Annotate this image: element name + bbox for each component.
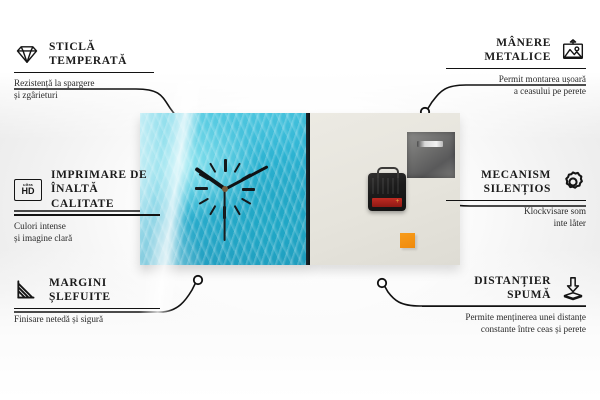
callout-head: DISTANȚIER SPUMĂ <box>422 274 586 303</box>
battery-plus-icon: + <box>395 199 400 204</box>
back-panel: + <box>310 113 460 265</box>
callout-title-line1: STICLĂ <box>49 40 127 54</box>
callout-description: Finisare netedă și sigură <box>14 313 160 325</box>
callout-foam-spacer: DISTANȚIER SPUMĂ Permite menținerea unei… <box>422 274 586 335</box>
callout-desc-line2: și imagine clară <box>14 232 160 244</box>
callout-title: DISTANȚIER SPUMĂ <box>474 274 551 303</box>
callout-divider <box>14 72 154 73</box>
callout-desc-line2: și zgârieturi <box>14 89 154 101</box>
battery: + <box>372 198 402 207</box>
hanger-loop <box>377 167 399 178</box>
callout-title-line1: IMPRIMARE DE <box>51 168 160 182</box>
callout-divider <box>446 200 586 201</box>
callout-desc-line1: Finisare netedă și sigură <box>14 313 160 325</box>
ultra-hd-icon: ultra HD <box>14 179 42 201</box>
hanger-slot <box>417 141 443 147</box>
callout-title-line2: SILENȚIOS <box>481 182 551 196</box>
callout-title: IMPRIMARE DE ÎNALTĂ CALITATE <box>51 168 160 211</box>
callout-head: STICLĂ TEMPERATĂ <box>14 40 154 69</box>
callout-divider <box>14 308 160 309</box>
callout-title-line2: ȘLEFUITE <box>49 290 111 304</box>
callout-polished-edges: MARGINI ȘLEFUITE Finisare netedă și sigu… <box>14 276 160 325</box>
callout-desc-line1: Permit montarea ușoară <box>446 73 586 85</box>
picture-frame-hanger-icon <box>560 37 586 63</box>
callout-tempered-glass: STICLĂ TEMPERATĂ Rezistență la spargere … <box>14 40 154 101</box>
callout-desc-line1: Culori intense <box>14 220 160 232</box>
callout-silent-mechanism: MECANISM SILENȚIOS Klockvisare som inte … <box>446 168 586 229</box>
callout-title-line1: MECANISM <box>481 168 551 182</box>
polished-edges-icon <box>14 277 40 303</box>
callout-desc-line2: inte låter <box>446 217 586 229</box>
clock-center-pin <box>222 186 228 192</box>
callout-description: Permit montarea ușoară a ceasului pe per… <box>446 73 586 97</box>
callout-title-line2: METALICE <box>484 50 551 64</box>
callout-desc-line1: Klockvisare som <box>446 205 586 217</box>
callout-title: MARGINI ȘLEFUITE <box>49 276 111 305</box>
callout-title-line1: DISTANȚIER <box>474 274 551 288</box>
callout-title: MECANISM SILENȚIOS <box>481 168 551 197</box>
clock-face <box>140 113 310 265</box>
callout-description: Culori intense și imagine clară <box>14 220 160 244</box>
foam-spacer <box>400 233 415 248</box>
callout-description: Klockvisare som inte låter <box>446 205 586 229</box>
movement-housing <box>372 178 402 194</box>
connector-dot-foam-spacer <box>378 279 386 287</box>
gear-icon <box>560 169 586 195</box>
callout-metal-handles: MÂNERE METALICE Permit montarea ușoară a… <box>446 36 586 97</box>
callout-head: MECANISM SILENȚIOS <box>446 168 586 197</box>
callout-title-line1: MARGINI <box>49 276 111 290</box>
infographic-canvas: + STICLĂ TEMPERATĂ Rezistență la sparger… <box>0 0 600 400</box>
ultra-hd-icon-main-text: HD <box>22 187 35 196</box>
clock-second-hand <box>224 189 226 241</box>
callout-divider <box>422 306 586 307</box>
callout-description: Permite menținerea unei distanțe constan… <box>422 311 586 335</box>
callout-head: ultra HD IMPRIMARE DE ÎNALTĂ CALITATE <box>14 168 160 211</box>
callout-title-line2: ÎNALTĂ CALITATE <box>51 182 160 211</box>
callout-title: MÂNERE METALICE <box>484 36 551 65</box>
callout-head: MARGINI ȘLEFUITE <box>14 276 160 305</box>
callout-description: Rezistență la spargere și zgârieturi <box>14 77 154 101</box>
callout-title-line1: MÂNERE <box>484 36 551 50</box>
callout-title-line2: TEMPERATĂ <box>49 54 127 68</box>
callout-desc-line1: Permite menținerea unei distanțe <box>422 311 586 323</box>
down-arrow-stack-icon <box>560 275 586 301</box>
callout-desc-line2: a ceasului pe perete <box>446 85 586 97</box>
product-image: + <box>140 113 460 265</box>
callout-title-line2: SPUMĂ <box>474 288 551 302</box>
callout-desc-line2: constante între ceas și perete <box>422 323 586 335</box>
callout-title: STICLĂ TEMPERATĂ <box>49 40 127 69</box>
glass-panel <box>140 113 310 265</box>
callout-hd-print: ultra HD IMPRIMARE DE ÎNALTĂ CALITATE Cu… <box>14 168 160 244</box>
callout-divider <box>14 214 160 215</box>
diamond-icon <box>14 41 40 67</box>
callout-desc-line1: Rezistență la spargere <box>14 77 154 89</box>
quartz-movement: + <box>368 173 406 211</box>
callout-head: MÂNERE METALICE <box>446 36 586 65</box>
callout-divider <box>446 68 586 69</box>
